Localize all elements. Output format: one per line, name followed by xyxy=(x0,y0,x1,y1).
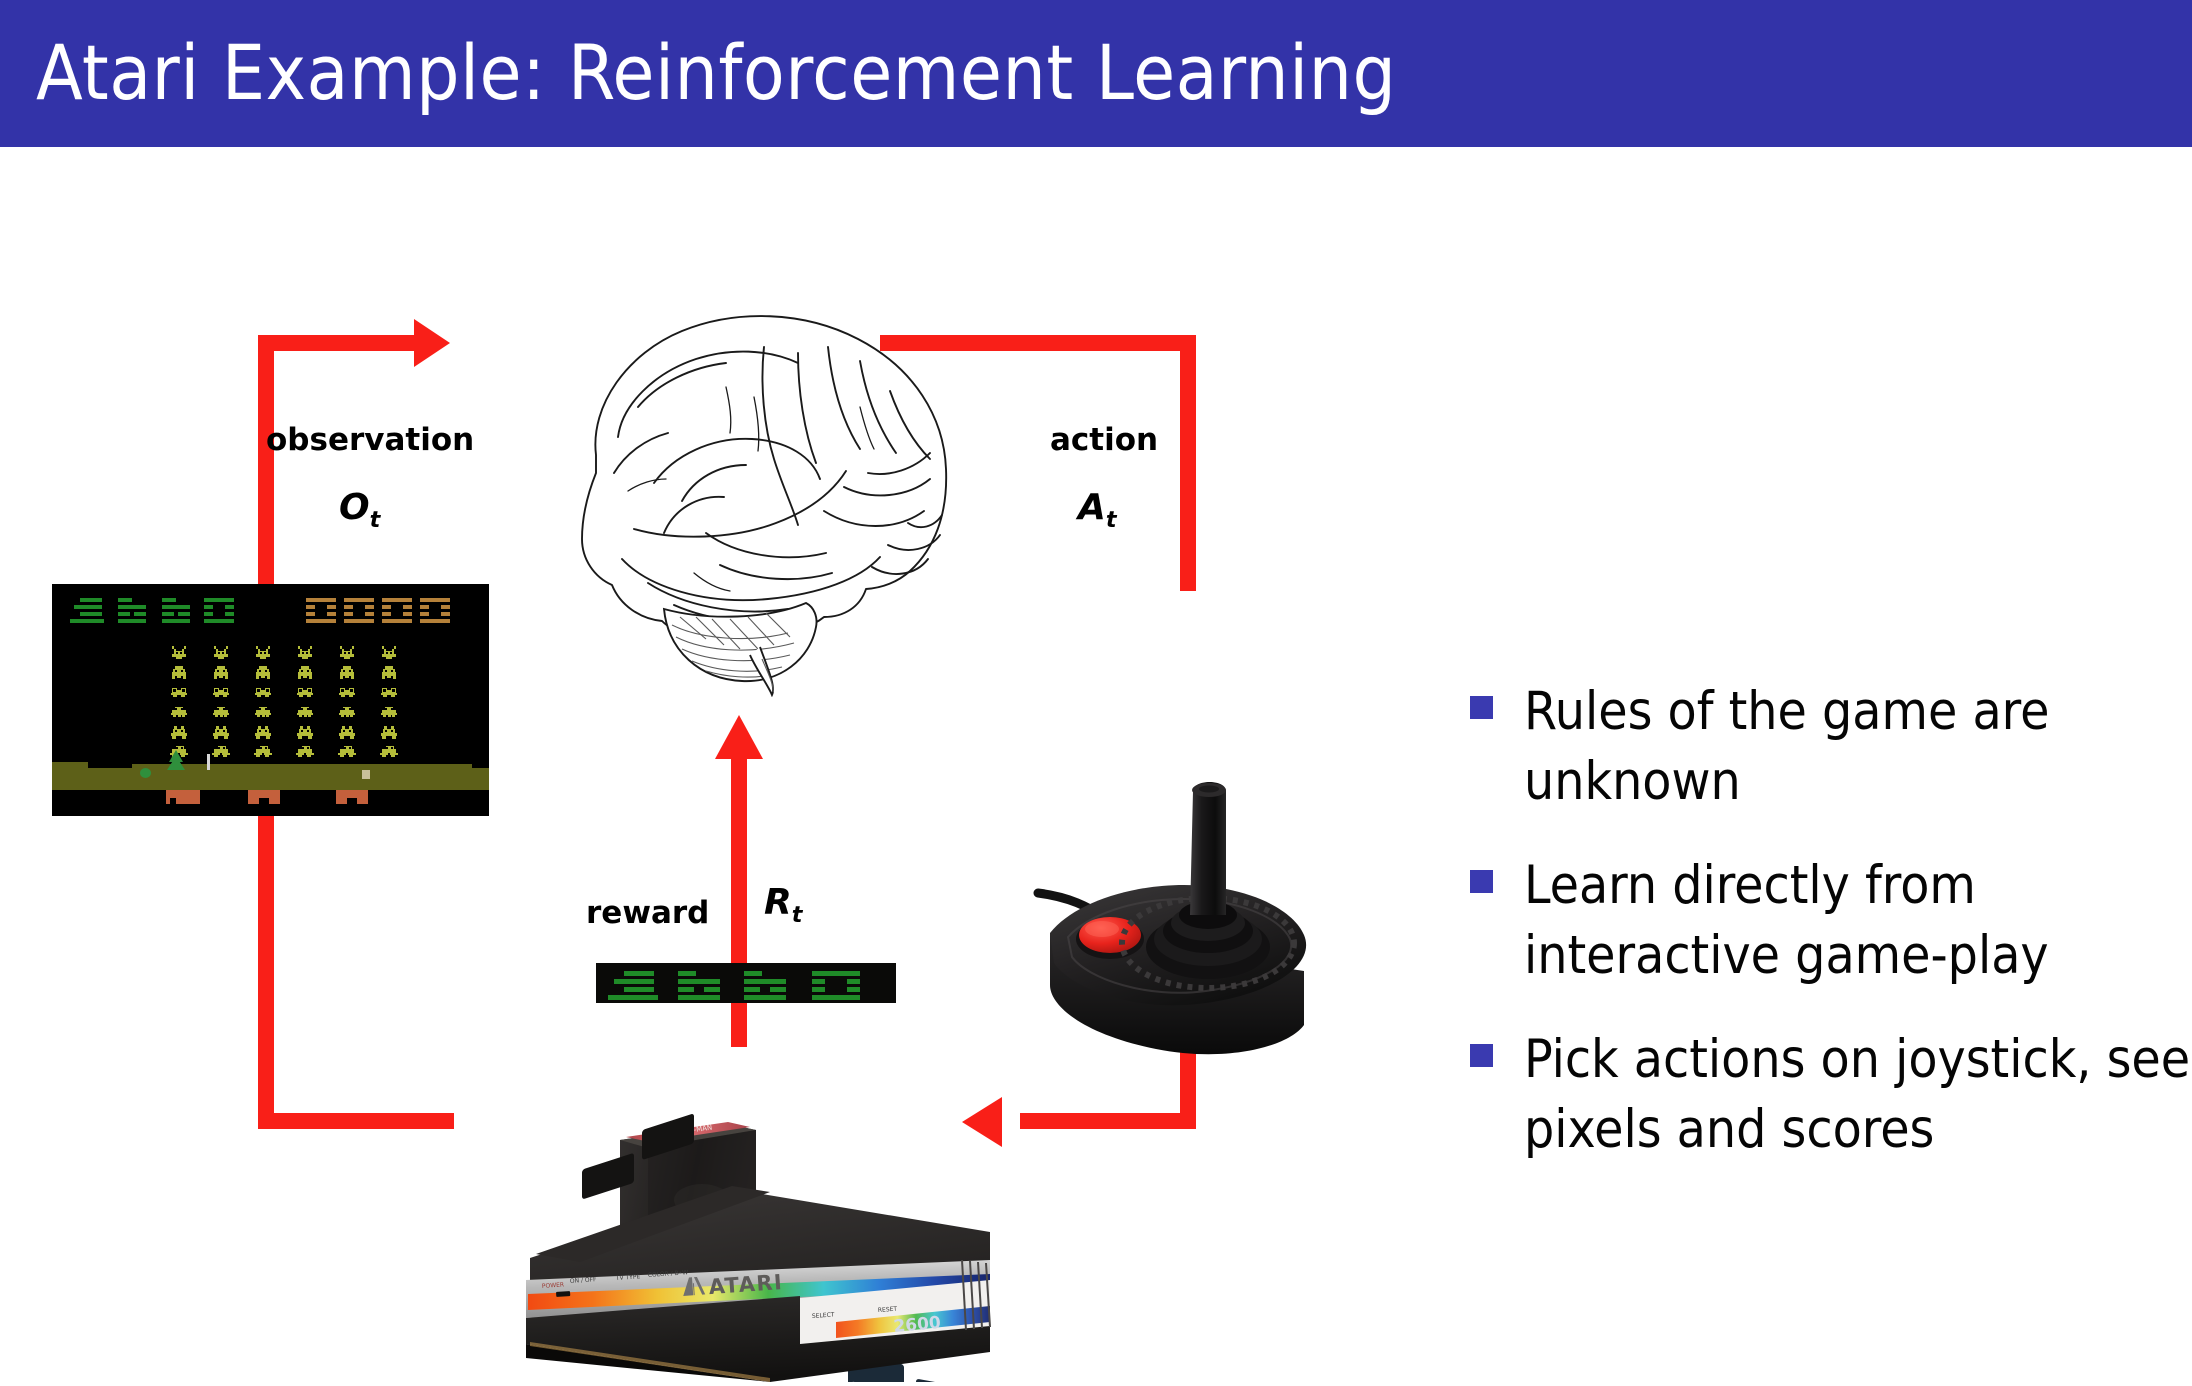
atari-joystick[interactable] xyxy=(1030,757,1330,1067)
page-title: Atari Example: Reinforcement Learning xyxy=(36,14,1396,132)
observation-feed-horizontal xyxy=(258,1113,454,1129)
list-item: Pick actions on joystick, see pixels and… xyxy=(1462,1025,2192,1165)
list-item: Rules of the game are unknown xyxy=(1462,677,2192,817)
bullet-marker-icon xyxy=(1470,696,1493,719)
list-item-label: Learn directly from interactive game-pla… xyxy=(1524,851,2192,991)
observation-symbol: Ot xyxy=(339,487,380,533)
score-digit xyxy=(418,598,455,623)
action-label: action xyxy=(1050,422,1158,458)
player-laser xyxy=(207,754,210,770)
observation-feed-vertical xyxy=(258,807,274,1129)
score-digit xyxy=(380,598,417,623)
observation-arrow-horizontal xyxy=(258,335,418,351)
action-symbol: At xyxy=(1078,487,1117,533)
action-feed-horizontal xyxy=(1020,1113,1196,1129)
space-invaders-screen xyxy=(52,584,489,816)
atari-2600-console[interactable]: MS. PAC-MAN PUSH PUSH xyxy=(470,1082,1010,1382)
bullet-list: Rules of the game are unknown Learn dire… xyxy=(1462,677,2192,1199)
reward-arrow-shaft xyxy=(731,755,747,1047)
shrub-sprite xyxy=(140,768,151,778)
power-switch xyxy=(556,1291,570,1297)
player-ship xyxy=(362,770,370,779)
reward-arrowhead xyxy=(715,715,763,759)
score-digit xyxy=(342,598,379,623)
list-item-label: Pick actions on joystick, see pixels and… xyxy=(1524,1025,2192,1165)
brain-illustration xyxy=(468,287,988,697)
switch-label-reset: RESET xyxy=(878,1306,898,1314)
slide-title-bar: Atari Example: Reinforcement Learning xyxy=(0,0,2192,147)
reward-digit xyxy=(608,971,658,997)
action-arrow-vertical xyxy=(1180,335,1196,591)
reward-score-strip xyxy=(596,963,896,1003)
reward-symbol: Rt xyxy=(764,882,802,928)
reward-digit xyxy=(674,971,724,997)
observation-arrowhead xyxy=(414,319,450,367)
score-digit xyxy=(114,598,151,623)
slide-body: MS. PAC-MAN PUSH PUSH xyxy=(0,147,2192,1302)
bullet-marker-icon xyxy=(1470,870,1493,893)
ground-mound xyxy=(52,762,88,768)
score-digit xyxy=(304,598,341,623)
ground-strip xyxy=(52,768,489,790)
list-item-label: Rules of the game are unknown xyxy=(1524,677,2192,817)
game-score-row xyxy=(52,598,489,624)
bullet-marker-icon xyxy=(1470,1044,1493,1067)
score-digit xyxy=(70,598,107,623)
reward-label: reward xyxy=(586,895,709,931)
reward-digit xyxy=(810,971,864,997)
tree-sprite xyxy=(165,750,187,772)
observation-label: observation xyxy=(266,422,474,458)
score-digit xyxy=(202,598,239,623)
reward-digit xyxy=(740,971,790,997)
score-digit xyxy=(158,598,195,623)
list-item: Learn directly from interactive game-pla… xyxy=(1462,851,2192,991)
